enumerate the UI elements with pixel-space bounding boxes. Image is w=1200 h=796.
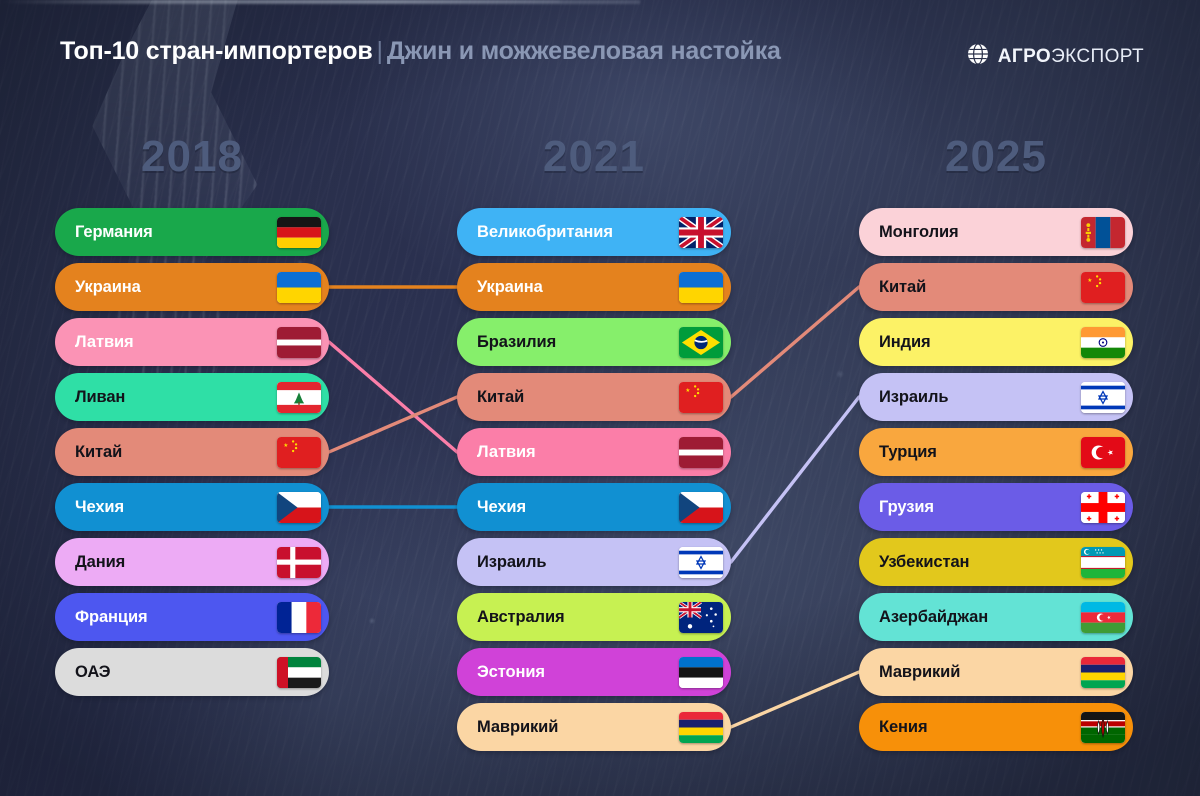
flag-icon-au [679,602,723,633]
country-name: Грузия [879,498,1081,517]
flag-icon-gb [679,217,723,248]
country-pill[interactable]: Дания [55,538,329,586]
country-name: Узбекистан [879,553,1081,572]
flag-icon-cn [277,437,321,468]
country-pill[interactable]: Маврикий [457,703,731,751]
ranking-column-2018: ГерманияУкраинаЛатвияЛиванКитайЧехияДани… [55,208,329,703]
logo-wordmark: АГРОЭКСПОРТ [998,46,1144,68]
country-name: Индия [879,333,1081,352]
page-title: Топ-10 стран-импортеров|Джин и можжевело… [60,34,890,70]
country-pill[interactable]: Кения [859,703,1133,751]
country-pill[interactable]: Грузия [859,483,1133,531]
flag-icon-cn [679,382,723,413]
header: Топ-10 стран-импортеров|Джин и можжевело… [60,34,890,70]
ice-shelf-highlight-secondary [0,0,560,3]
country-pill[interactable]: Азербайджан [859,593,1133,641]
country-pill[interactable]: Китай [55,428,329,476]
country-pill[interactable]: Израиль [859,373,1133,421]
country-pill[interactable]: Индия [859,318,1133,366]
flag-icon-mu [1081,657,1125,688]
country-pill[interactable]: Чехия [55,483,329,531]
flag-icon-mn [1081,217,1125,248]
flag-icon-lb [277,382,321,413]
country-name: Кения [879,718,1081,737]
country-name: Германия [75,223,277,242]
country-pill[interactable]: Украина [55,263,329,311]
country-name: Азербайджан [879,608,1081,627]
flag-icon-lv [679,437,723,468]
country-pill[interactable]: ОАЭ [55,648,329,696]
flag-icon-br [679,327,723,358]
country-name: Израиль [477,553,679,572]
flag-icon-az [1081,602,1125,633]
country-pill[interactable]: Монголия [859,208,1133,256]
country-name: Ливан [75,388,277,407]
country-pill[interactable]: Ливан [55,373,329,421]
flag-icon-cz [679,492,723,523]
country-pill[interactable]: Израиль [457,538,731,586]
connector-line [731,397,859,562]
country-name: Китай [879,278,1081,297]
country-name: Китай [477,388,679,407]
globe-icon [967,43,989,70]
country-name: Латвия [477,443,679,462]
year-heading-2025: 2025 [859,132,1133,182]
country-name: Великобритания [477,223,679,242]
connector-line [731,672,859,727]
flag-icon-il [679,547,723,578]
country-pill[interactable]: Чехия [457,483,731,531]
country-pill[interactable]: Германия [55,208,329,256]
flag-icon-cn [1081,272,1125,303]
country-pill[interactable]: Турция [859,428,1133,476]
ice-shelf-highlight [0,0,640,4]
country-name: Эстония [477,663,679,682]
country-name: Латвия [75,333,277,352]
ranking-column-2021: ВеликобританияУкраинаБразилияКитайЛатвия… [457,208,731,758]
flag-icon-ke [1081,712,1125,743]
country-name: Маврикий [477,718,679,737]
country-name: Чехия [477,498,679,517]
ranking-column-2025: МонголияКитайИндияИзраильТурцияГрузияУзб… [859,208,1133,758]
connector-line [731,287,859,397]
country-name: Дания [75,553,277,572]
flag-icon-cz [277,492,321,523]
logo-word-bold: АГРО [998,46,1051,67]
country-name: Австралия [477,608,679,627]
country-pill[interactable]: Великобритания [457,208,731,256]
country-name: ОАЭ [75,663,277,682]
page-subtitle: Джин и можжевеловая настойка [387,37,781,65]
country-pill[interactable]: Латвия [457,428,731,476]
country-name: Бразилия [477,333,679,352]
title-separator: | [373,37,387,65]
flag-icon-lv [277,327,321,358]
logo-word-light: ЭКСПОРТ [1051,46,1144,67]
country-pill[interactable]: Латвия [55,318,329,366]
flag-icon-dk [277,547,321,578]
agroexport-logo[interactable]: АГРОЭКСПОРТ [967,43,1144,70]
country-pill[interactable]: Бразилия [457,318,731,366]
country-name: Чехия [75,498,277,517]
country-name: Китай [75,443,277,462]
flag-icon-in [1081,327,1125,358]
flag-icon-ge [1081,492,1125,523]
country-pill[interactable]: Украина [457,263,731,311]
flag-icon-ua [277,272,321,303]
infographic-canvas: Топ-10 стран-импортеров|Джин и можжевело… [0,0,1200,796]
country-pill[interactable]: Франция [55,593,329,641]
flag-icon-fr [277,602,321,633]
country-name: Украина [75,278,277,297]
flag-icon-tr [1081,437,1125,468]
connector-line [329,397,457,452]
country-name: Израиль [879,388,1081,407]
country-pill[interactable]: Китай [457,373,731,421]
flag-icon-il [1081,382,1125,413]
country-pill[interactable]: Австралия [457,593,731,641]
year-heading-2021: 2021 [457,132,731,182]
country-pill[interactable]: Китай [859,263,1133,311]
flag-icon-mu [679,712,723,743]
country-name: Маврикий [879,663,1081,682]
flag-icon-uz [1081,547,1125,578]
flag-icon-de [277,217,321,248]
year-heading-2018: 2018 [55,132,329,182]
flag-icon-ee [679,657,723,688]
flag-icon-ae [277,657,321,688]
page-title-main: Топ-10 стран-импортеров [60,37,373,65]
country-name: Украина [477,278,679,297]
country-pill[interactable]: Эстония [457,648,731,696]
country-name: Франция [75,608,277,627]
country-name: Турция [879,443,1081,462]
country-pill[interactable]: Маврикий [859,648,1133,696]
connector-line [329,342,457,452]
country-name: Монголия [879,223,1081,242]
flag-icon-ua [679,272,723,303]
country-pill[interactable]: Узбекистан [859,538,1133,586]
